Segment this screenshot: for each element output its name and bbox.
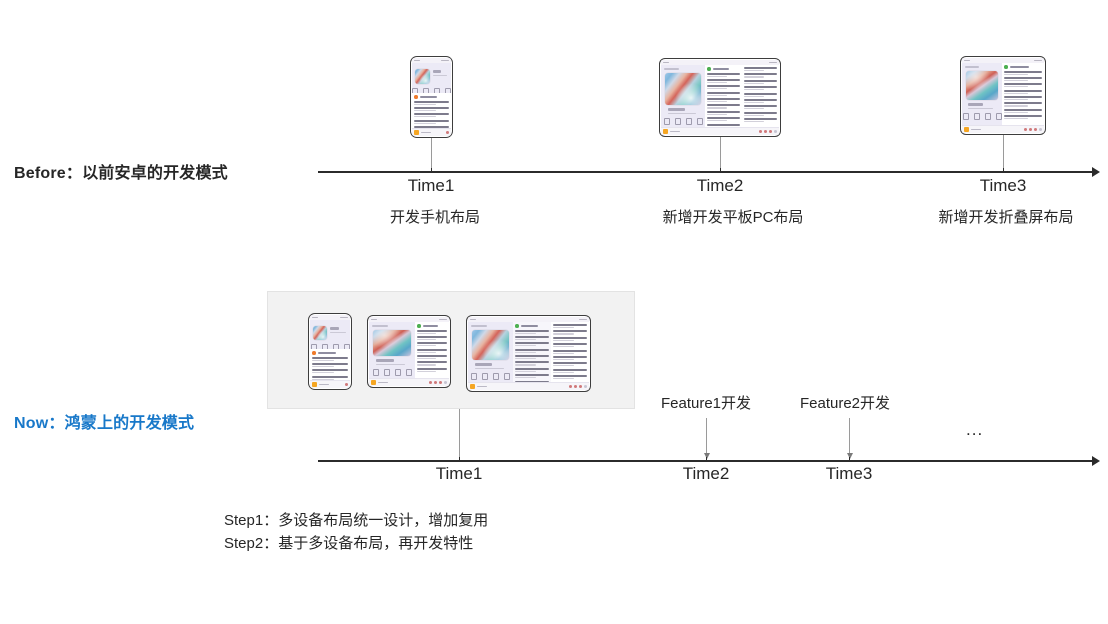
axis-tick-time1 [431,168,432,173]
before-time-desc-2: 新增开发平板PC布局 [663,206,804,227]
player-control-icon[interactable] [1039,128,1042,131]
album-art-pane [412,63,451,93]
now-section-label: Now：鸿蒙上的开发模式 [14,409,194,433]
album-cover [966,71,998,100]
album-subtitle-line [433,75,447,77]
list-item[interactable] [553,337,587,341]
status-icons [340,317,348,319]
mini-player-thumb [663,129,668,134]
axis-tick-now-time3 [849,457,850,462]
content-row [310,349,350,380]
action-icon[interactable] [493,373,499,380]
before-time-label-1: Time1 [408,176,455,196]
track-list-column-2 [742,65,779,127]
list-item[interactable] [553,330,587,334]
action-icon[interactable] [373,369,379,376]
album-meta [968,103,995,109]
status-time [312,317,318,319]
play-icon[interactable] [1004,65,1008,69]
feature-arrow-2 [849,418,850,454]
before-time-label-2: Time2 [697,176,744,196]
album-cover [665,73,701,105]
album-cover [472,330,509,360]
list-item[interactable] [707,104,740,108]
player-control-icon[interactable] [774,130,777,133]
player-control-icon[interactable] [429,381,432,384]
list-item[interactable] [414,101,449,105]
list-item[interactable] [553,324,587,328]
album-cover [313,326,327,340]
action-icon[interactable] [974,113,980,120]
pane-title [664,68,679,70]
list-item[interactable] [312,363,348,367]
play-icon[interactable] [707,67,711,71]
player-control-icon[interactable] [444,381,447,384]
action-icon[interactable] [675,118,681,125]
action-icon[interactable] [996,113,1002,120]
list-item[interactable] [1004,90,1042,94]
action-icon[interactable] [395,369,401,376]
status-time [414,60,420,62]
axis-tick-time3 [1003,168,1004,173]
mini-player-title [670,131,680,133]
mini-player-controls[interactable] [759,130,777,133]
status-icons [441,60,449,62]
list-item[interactable] [1004,71,1042,75]
phone-screen [412,58,451,136]
album-meta [433,70,448,76]
content-row [468,322,589,382]
now-time-label-2: Time2 [683,464,730,484]
mini-player-bar[interactable] [369,378,449,386]
mini-player-thumb [470,384,475,389]
player-control-icon[interactable] [764,130,767,133]
mini-player-title [971,129,981,131]
album-subtitle-line [668,113,696,115]
album-art-pane [661,65,705,127]
list-item[interactable] [417,368,447,372]
action-icon[interactable] [697,118,703,125]
list-item[interactable] [744,93,777,97]
feature-annotation-2: Feature2开发 [800,392,890,413]
mini-player-info [964,127,981,132]
before-section-label: Before：以前安卓的开发模式 [14,159,228,183]
album-action-icons [963,113,1002,120]
timeline-ellipsis: ... [966,420,983,440]
list-item[interactable] [417,342,447,346]
mini-player-title [378,382,388,384]
mini-player-thumb [371,380,376,385]
content-row [412,93,451,128]
play-icon[interactable] [417,324,421,328]
list-item[interactable] [707,98,740,102]
header-line [420,96,438,98]
device-mockup-phone-before [410,56,453,138]
list-item[interactable] [707,92,740,96]
player-control-icon[interactable] [569,385,572,388]
before-timeline-axis [318,171,1093,173]
mini-player-info [414,130,431,135]
track-list [412,93,451,128]
action-icon[interactable] [504,373,510,380]
player-control-icon[interactable] [446,131,449,134]
list-item[interactable] [553,356,587,360]
before-time-label-3: Time3 [980,176,1027,196]
player-control-icon[interactable] [434,381,437,384]
list-item[interactable] [312,357,348,361]
action-icon[interactable] [664,118,670,125]
track-list [1002,63,1044,125]
list-item[interactable] [707,73,740,77]
mini-player-bar[interactable] [468,382,589,390]
album-title-line [968,103,983,106]
list-item[interactable] [707,111,740,115]
album-art-pane [468,322,513,382]
header-line [318,352,336,354]
player-control-icon[interactable] [345,383,348,386]
mini-player-thumb [964,127,969,132]
list-item[interactable] [1004,109,1042,113]
track-list-header [515,324,549,328]
header-line [1010,66,1029,68]
album-title-line [433,70,441,73]
list-item[interactable] [312,369,348,373]
album-art-pane [369,322,415,378]
foldable-screen [369,317,449,386]
step-line-2: Step2：基于多设备布局，再开发特性 [224,532,488,555]
mini-player-info [371,380,388,385]
player-control-icon[interactable] [439,381,442,384]
list-item[interactable] [515,361,549,365]
album-title-line [330,327,339,330]
now-time-label-1: Time1 [436,464,483,484]
player-control-icon[interactable] [1034,128,1037,131]
list-item[interactable] [414,107,449,111]
now-time-label-3: Time3 [826,464,873,484]
connector-line-time3 [1003,135,1004,172]
mini-player-info [312,382,329,387]
album-title-line [475,363,492,366]
list-item[interactable] [417,330,447,334]
track-list-column-1 [513,322,551,382]
action-icon[interactable] [471,373,477,380]
list-item[interactable] [553,369,587,373]
list-item[interactable] [417,361,447,365]
list-item[interactable] [1004,102,1042,106]
axis-tick-time2 [720,168,721,173]
feature-annotation-1: Feature1开发 [661,392,751,413]
connector-line-time1 [431,138,432,172]
content-row [369,322,449,378]
mini-player-bar[interactable] [962,125,1044,133]
list-item[interactable] [744,118,777,122]
pane-title [372,325,388,327]
album-meta [330,327,347,333]
content-row [962,63,1044,125]
track-list-column-2 [551,322,589,382]
mini-player-controls[interactable] [1024,128,1042,131]
list-item[interactable] [744,73,777,77]
foldable-screen [962,58,1044,133]
player-control-icon[interactable] [1024,128,1027,131]
track-list-header [417,324,447,328]
player-control-icon[interactable] [759,130,762,133]
tablet-screen [661,60,779,135]
pane-title [471,325,487,327]
mini-player-bar[interactable] [412,128,451,136]
list-item[interactable] [744,86,777,90]
feature-arrow-1 [706,418,707,454]
album-action-icons [664,118,703,125]
list-item[interactable] [417,336,447,340]
player-control-icon[interactable] [584,385,587,388]
device-mockup-tablet-before [659,58,781,137]
step-line-1: Step1：多设备布局统一设计，增加复用 [224,509,488,532]
action-icon[interactable] [406,369,412,376]
album-meta [376,359,408,365]
status-icons [769,62,777,64]
album-subtitle-line [968,108,993,110]
list-item[interactable] [1004,77,1042,81]
mini-player-bar[interactable] [310,380,350,388]
list-item[interactable] [744,67,777,71]
mini-player-bar[interactable] [661,127,779,135]
header-line [423,325,438,327]
axis-arrow-icon [1092,167,1100,177]
player-control-icon[interactable] [579,385,582,388]
album-subtitle-line [330,332,346,334]
mini-player-controls[interactable] [569,385,587,388]
device-mockup-phone-now [308,313,352,390]
list-item[interactable] [553,362,587,366]
action-icon[interactable] [985,113,991,120]
list-item[interactable] [707,117,740,121]
player-control-icon[interactable] [769,130,772,133]
mini-player-title [319,384,329,386]
list-item[interactable] [515,336,549,340]
album-art-pane [962,63,1002,125]
mini-player-title [477,386,487,388]
pane-title [965,66,979,68]
play-icon[interactable] [312,351,316,355]
album-title-line [376,359,394,362]
device-mockup-foldable-before [960,56,1046,135]
before-time-desc-3: 新增开发折叠屏布局 [938,206,1073,227]
mini-player-controls[interactable] [345,383,348,386]
list-item[interactable] [515,342,549,346]
mini-player-info [663,129,680,134]
list-item[interactable] [414,120,449,124]
track-list [310,349,350,380]
list-item[interactable] [553,343,587,347]
status-time [663,62,669,64]
list-item[interactable] [515,330,549,334]
album-cover [415,69,430,84]
action-icon[interactable] [686,118,692,125]
before-time-desc-1: 开发手机布局 [390,206,480,227]
action-icon[interactable] [963,113,969,120]
mini-player-thumb [312,382,317,387]
content-row [661,65,779,127]
player-control-icon[interactable] [1029,128,1032,131]
list-item[interactable] [744,105,777,109]
list-item[interactable] [515,368,549,372]
list-item[interactable] [553,375,587,379]
status-time [964,60,970,62]
track-list [415,322,449,378]
status-time [371,319,377,321]
list-item[interactable] [553,350,587,354]
album-subtitle-line [376,364,405,366]
status-icons [439,319,447,321]
track-list-header [414,95,449,99]
mini-player-controls[interactable] [429,381,447,384]
axis-tick-now-time1 [459,457,460,462]
album-meta [668,108,698,114]
album-subtitle-line [475,368,504,370]
list-item[interactable] [744,112,777,116]
tablet-screen [468,317,589,390]
header-line [713,68,730,70]
axis-arrow-icon [1092,456,1100,466]
status-icons [1034,60,1042,62]
device-mockup-tablet-now [466,315,591,392]
action-icon[interactable] [384,369,390,376]
album-cover [373,330,411,356]
action-icon[interactable] [482,373,488,380]
device-mockup-foldable-now [367,315,451,388]
mini-player-info [470,384,487,389]
list-item[interactable] [744,80,777,84]
mini-player-controls[interactable] [446,131,449,134]
list-item[interactable] [707,79,740,83]
album-title-line [668,108,685,111]
list-item[interactable] [515,374,549,378]
axis-tick-now-time2 [706,457,707,462]
album-action-icons [373,369,412,376]
list-item[interactable] [417,355,447,359]
track-list-column-1 [705,65,742,127]
list-item[interactable] [744,99,777,103]
header-line [521,325,538,327]
album-action-icons [471,373,510,380]
list-item[interactable] [1004,83,1042,87]
play-icon[interactable] [515,324,519,328]
steps-block: Step1：多设备布局统一设计，增加复用 Step2：基于多设备布局，再开发特性 [224,509,488,555]
list-item[interactable] [417,349,447,353]
list-item[interactable] [707,85,740,89]
mini-player-title [421,132,431,134]
mini-player-thumb [414,130,419,135]
track-list-header [1004,65,1042,69]
status-time [470,319,476,321]
track-list-header [312,351,348,355]
list-item[interactable] [1004,96,1042,100]
phone-screen [310,315,350,388]
play-icon[interactable] [414,95,418,99]
track-list-header [707,67,740,71]
status-icons [579,319,587,321]
list-item[interactable] [515,349,549,353]
list-item[interactable] [414,113,449,117]
album-art-pane [310,320,350,349]
list-item[interactable] [1004,115,1042,119]
album-meta [475,363,506,369]
slide-canvas: Before：以前安卓的开发模式 [0,0,1108,624]
list-item[interactable] [515,355,549,359]
connector-line-time2 [720,137,721,172]
player-control-icon[interactable] [574,385,577,388]
connector-line-now-time1 [459,409,460,460]
